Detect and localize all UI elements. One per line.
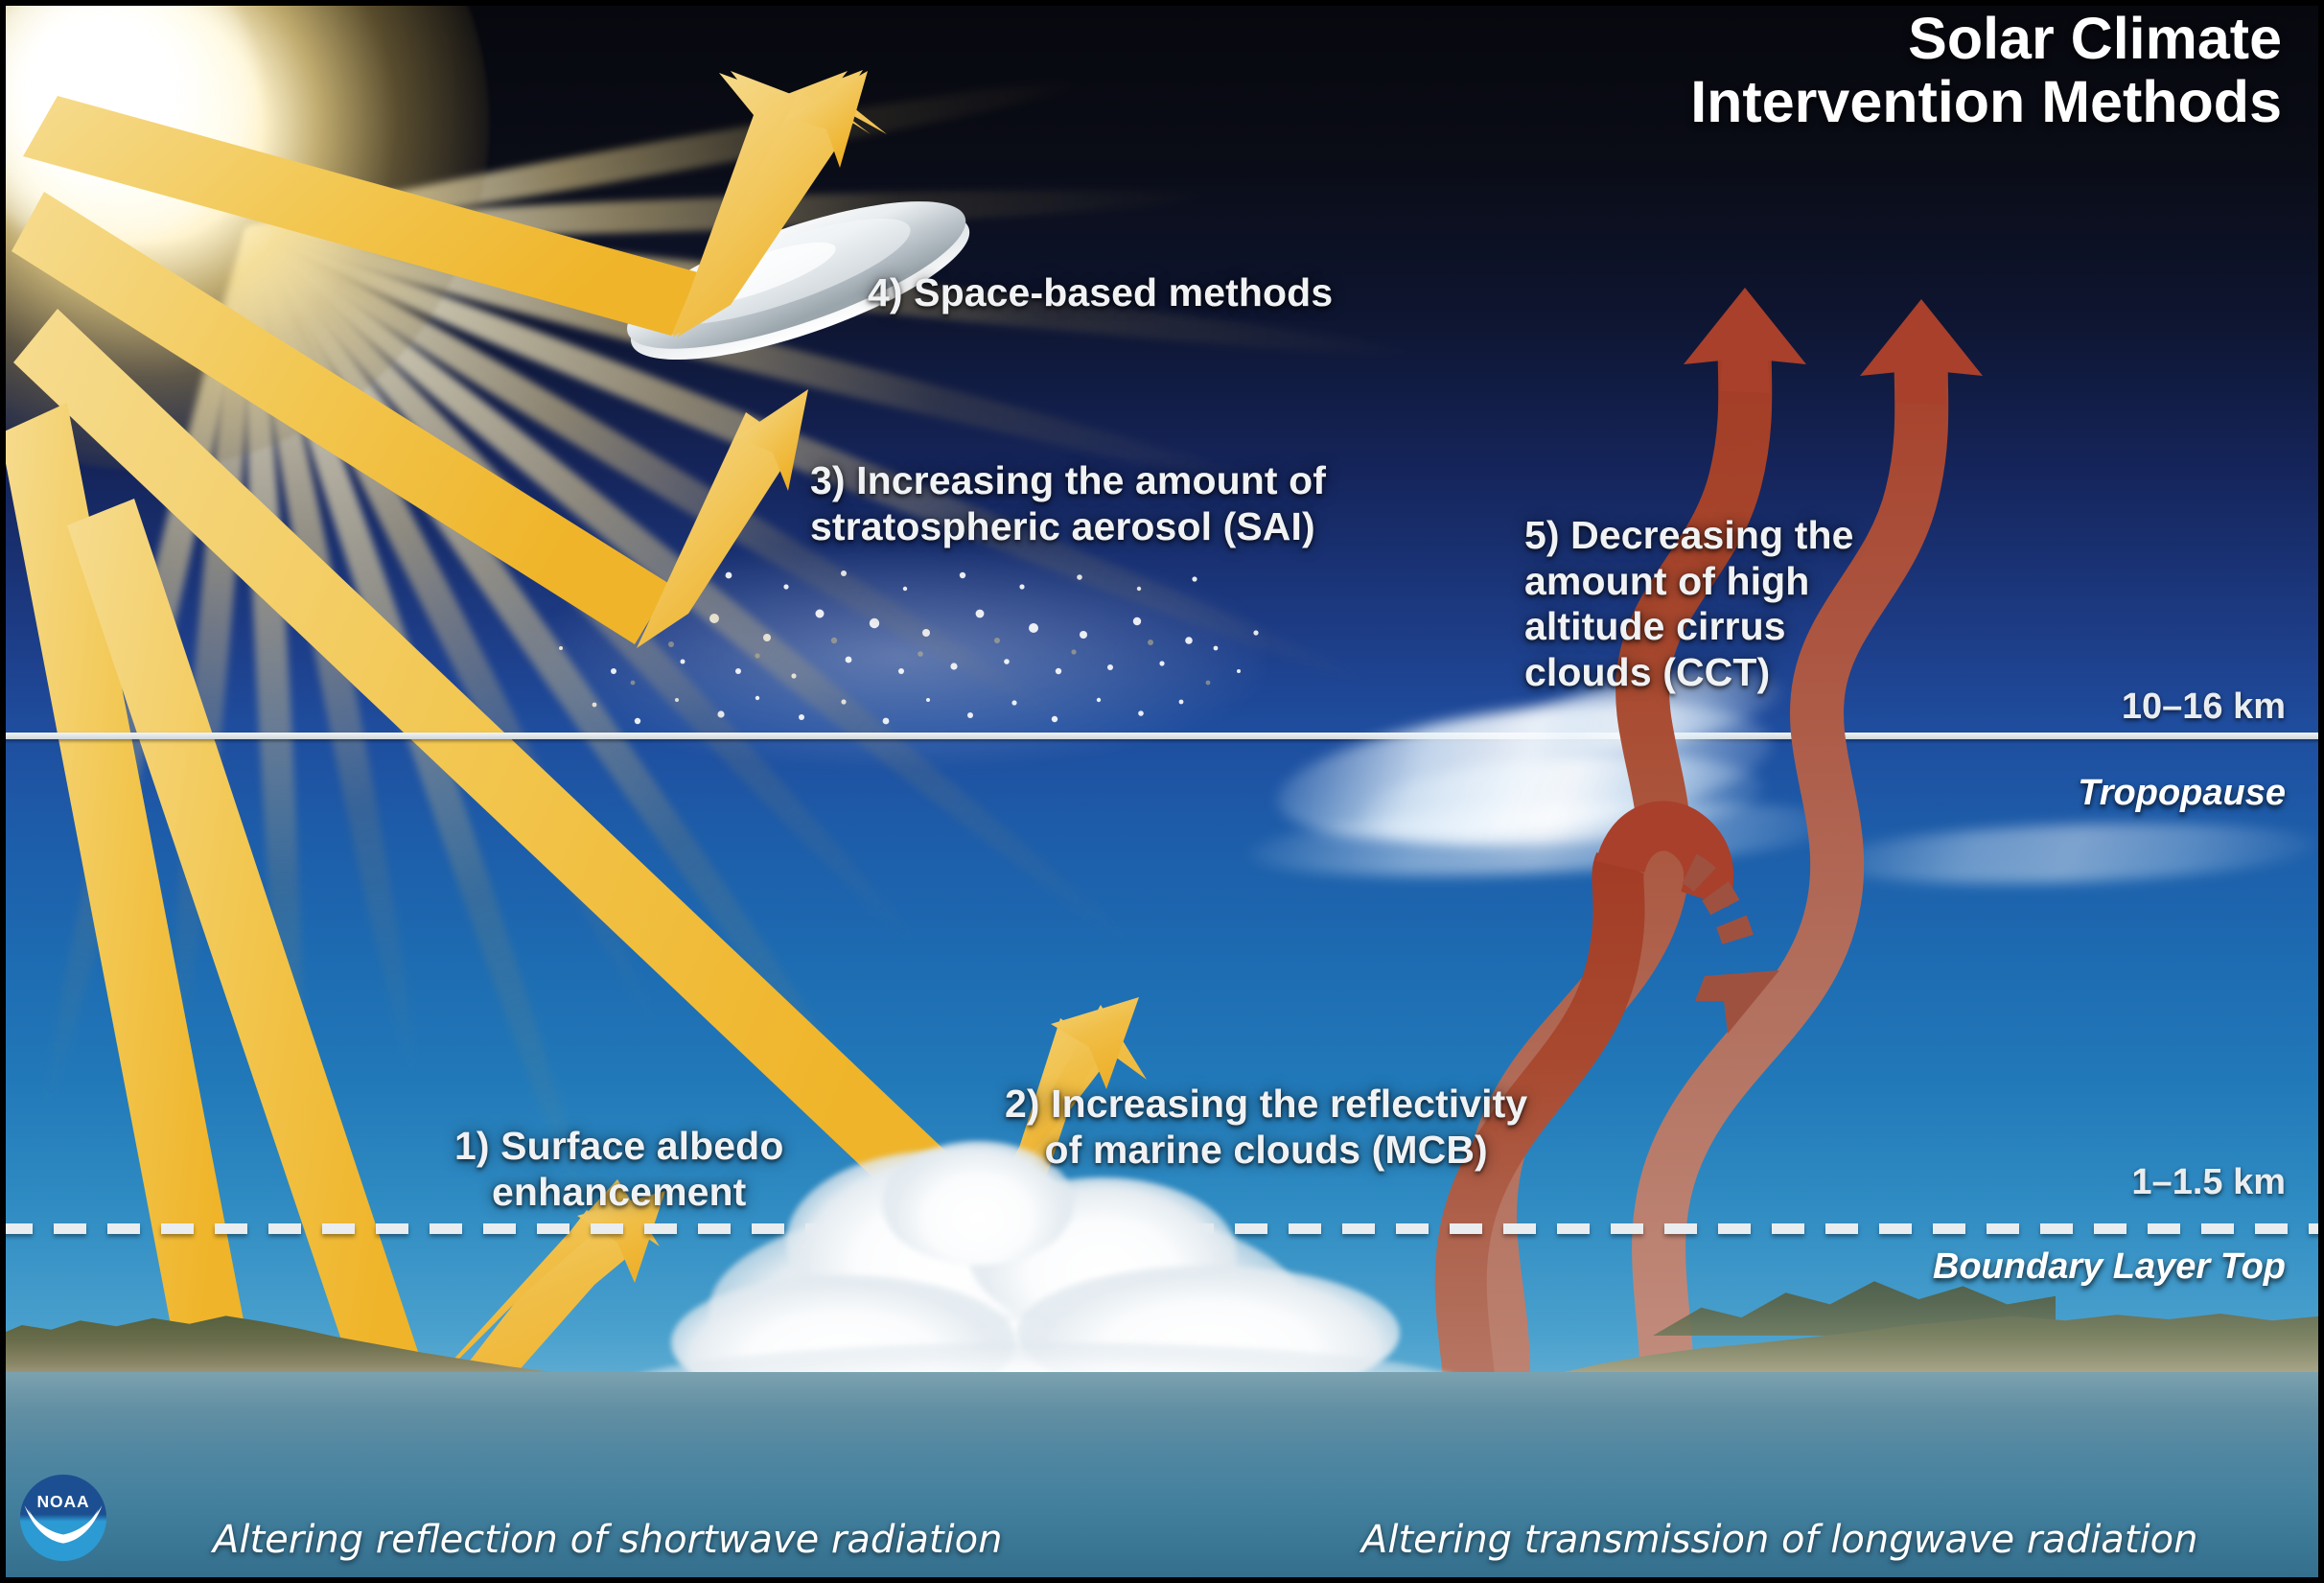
label-method-5-line-4: clouds (CCT) <box>1524 650 1854 696</box>
label-method-2: 2) Increasing the reflectivity of marine… <box>1005 1082 1527 1173</box>
label-method-5-line-3: altitude cirrus <box>1524 604 1854 650</box>
label-method-4-line-1: 4) Space-based methods <box>868 270 1333 316</box>
label-method-4: 4) Space-based methods <box>868 270 1333 316</box>
infographic-canvas: Solar Climate Intervention Methods 4) Sp… <box>0 0 2324 1583</box>
tropopause-altitude: 10–16 km <box>2122 687 2286 728</box>
label-method-3: 3) Increasing the amount of stratospheri… <box>810 458 1326 549</box>
label-method-2-line-2: of marine clouds (MCB) <box>1005 1128 1527 1174</box>
label-method-3-line-1: 3) Increasing the amount of <box>810 458 1326 504</box>
caption-shortwave: Altering reflection of shortwave radiati… <box>213 1518 1003 1562</box>
label-method-2-line-1: 2) Increasing the reflectivity <box>1005 1082 1527 1128</box>
boundary-layer-altitude: 1–1.5 km <box>2131 1162 2286 1203</box>
boundary-layer-label: Boundary Layer Top <box>1933 1246 2286 1288</box>
label-method-5-line-1: 5) Decreasing the <box>1524 513 1854 559</box>
noaa-logo-text: NOAA <box>36 1492 89 1511</box>
page-title: Solar Climate Intervention Methods <box>1690 8 2282 134</box>
label-method-5-line-2: amount of high <box>1524 559 1854 605</box>
label-method-5: 5) Decreasing the amount of high altitud… <box>1524 513 1854 695</box>
label-method-1-line-1: 1) Surface albedo <box>454 1124 783 1170</box>
title-line-2: Intervention Methods <box>1690 71 2282 134</box>
label-method-3-line-2: stratospheric aerosol (SAI) <box>810 504 1326 550</box>
title-line-1: Solar Climate <box>1690 8 2282 71</box>
noaa-logo: NOAA <box>19 1474 107 1562</box>
label-method-1-line-2: enhancement <box>454 1170 783 1216</box>
label-method-1: 1) Surface albedo enhancement <box>454 1124 783 1215</box>
caption-longwave: Altering transmission of longwave radiat… <box>1361 1518 2197 1562</box>
tropopause-divider <box>0 733 2324 739</box>
tropopause-label: Tropopause <box>2078 773 2286 814</box>
